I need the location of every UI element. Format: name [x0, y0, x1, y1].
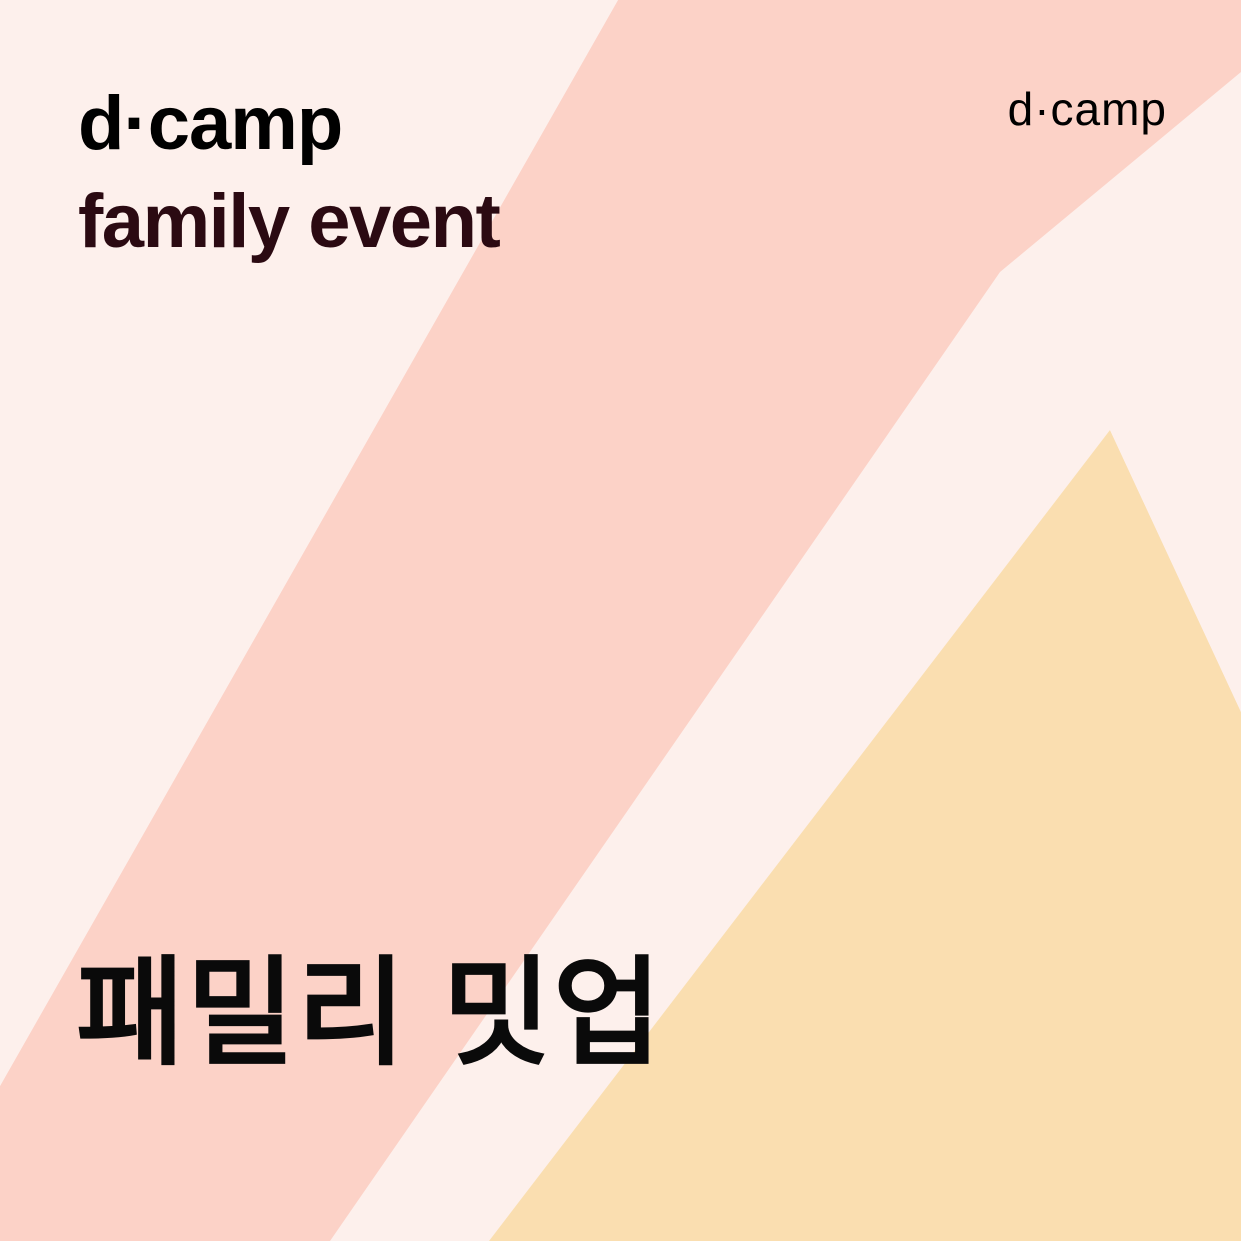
headline-line-1: d·camp — [78, 86, 342, 162]
dcamp-logo-wordmark[interactable]: d·camp — [1008, 86, 1167, 132]
poster-canvas: d·camp family event 패밀리 밋업 — [0, 0, 1241, 1241]
headline-line-2: family event — [78, 184, 499, 260]
korean-title: 패밀리 밋업 — [76, 955, 664, 1073]
